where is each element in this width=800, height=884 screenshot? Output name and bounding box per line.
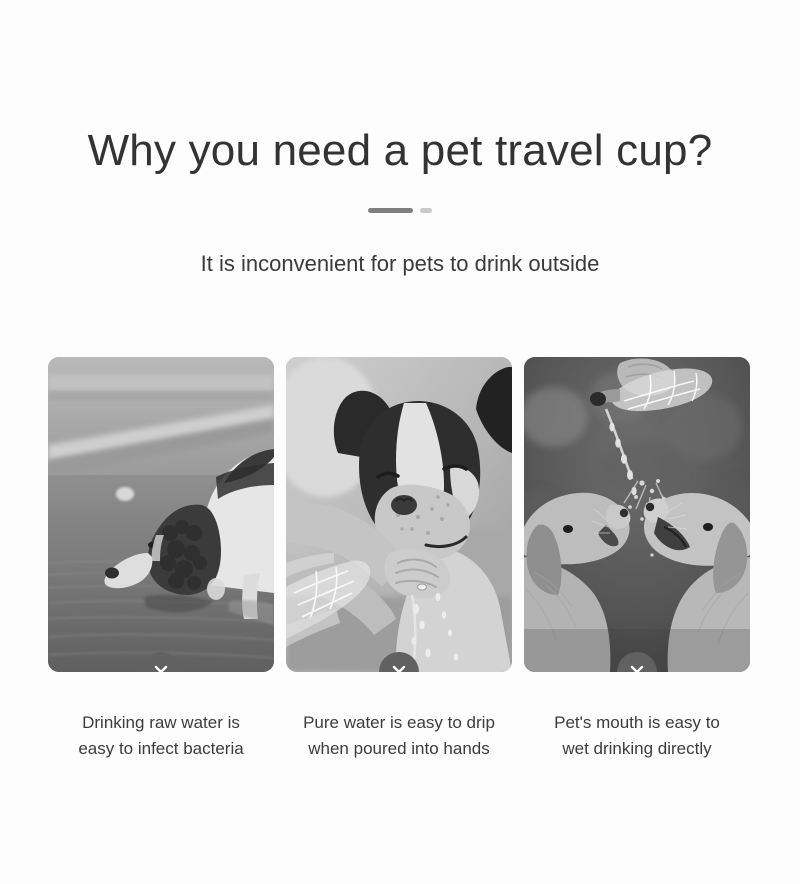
page-title: Why you need a pet travel cup? [0, 122, 800, 180]
caption-line: Pet's mouth is easy to [524, 710, 750, 736]
caption-line: wet drinking directly [524, 736, 750, 762]
card-caption: Drinking raw water is easy to infect bac… [48, 710, 274, 762]
section-divider [0, 205, 800, 215]
divider-bar-short [420, 208, 432, 213]
caption-line: when poured into hands [286, 736, 512, 762]
caption-line: Pure water is easy to drip [286, 710, 512, 736]
card-caption: Pet's mouth is easy to wet drinking dire… [524, 710, 750, 762]
problem-card: Pure water is easy to drip when poured i… [286, 357, 512, 762]
problem-cards-row: Drinking raw water is easy to infect bac… [48, 357, 752, 762]
divider-bar-long [368, 208, 413, 213]
caption-line: easy to infect bacteria [48, 736, 274, 762]
dog-drinking-from-hands-photo [286, 357, 512, 672]
page-subtitle: It is inconvenient for pets to drink out… [0, 249, 800, 279]
problem-card: Pet's mouth is easy to wet drinking dire… [524, 357, 750, 762]
caption-line: Drinking raw water is [48, 710, 274, 736]
dog-drinking-from-pool-photo [48, 357, 274, 672]
promo-page: Why you need a pet travel cup? It is inc… [0, 0, 800, 884]
card-caption: Pure water is easy to drip when poured i… [286, 710, 512, 762]
dogs-drinking-from-bottle-photo [524, 357, 750, 672]
problem-card: Drinking raw water is easy to infect bac… [48, 357, 274, 762]
